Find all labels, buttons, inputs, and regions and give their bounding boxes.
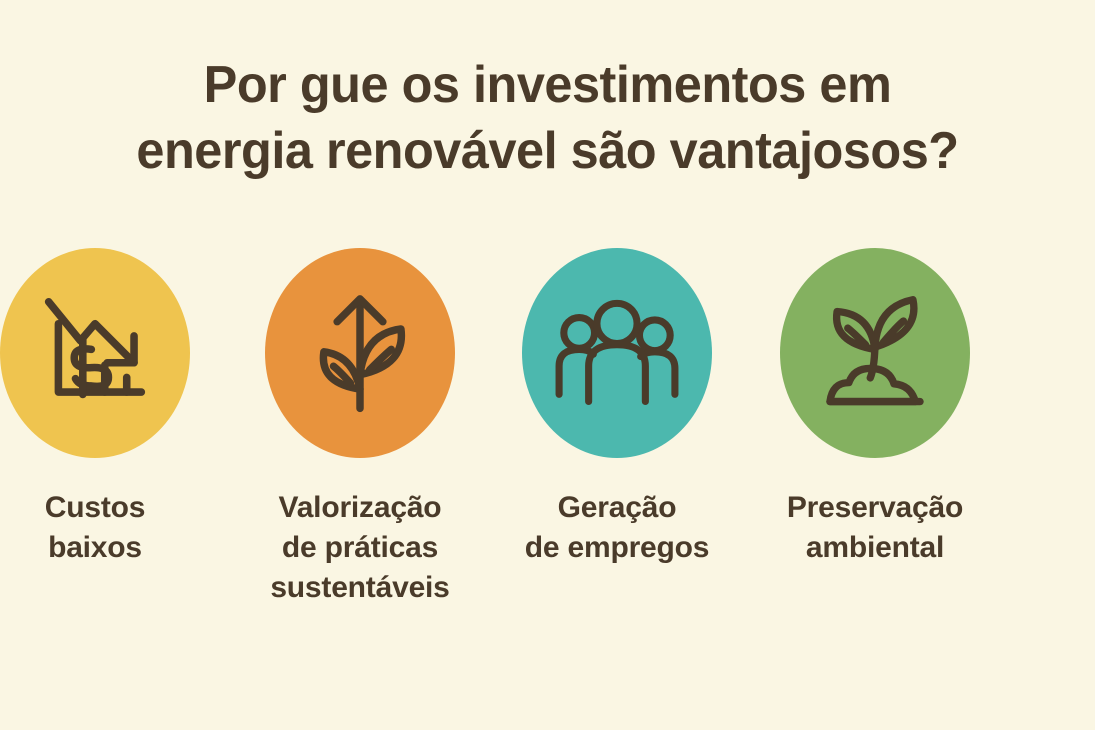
growth-arrow-leaves-icon (265, 248, 455, 458)
benefit-cards-row: Custos baixos Valorização de prática (0, 248, 1095, 628)
title-line-1: Por gue os investimentos em (16, 52, 1078, 118)
benefit-card-label: Valorização de práticas sustentáveis (270, 488, 449, 608)
infographic-poster: Por gue os investimentos em energia reno… (0, 0, 1095, 730)
benefit-card-geracao-empregos: Geração de empregos (489, 248, 745, 568)
title-line-2: energia renovável são vantajosos? (16, 118, 1078, 184)
benefit-card-preservacao-ambiental: Preservação ambiental (747, 248, 1003, 568)
declining-chart-dollar-icon (0, 248, 190, 458)
page-title: Por gue os investimentos em energia reno… (0, 52, 1095, 184)
people-group-icon (522, 248, 712, 458)
benefit-card-label: Geração de empregos (525, 488, 710, 568)
benefit-card-label: Preservação ambiental (787, 488, 963, 568)
benefit-card-label: Custos baixos (45, 488, 145, 568)
seedling-soil-icon (780, 248, 970, 458)
benefit-card-custos-baixos: Custos baixos (0, 248, 223, 568)
benefit-card-valorizacao-praticas-sustentaveis: Valorização de práticas sustentáveis (232, 248, 488, 608)
